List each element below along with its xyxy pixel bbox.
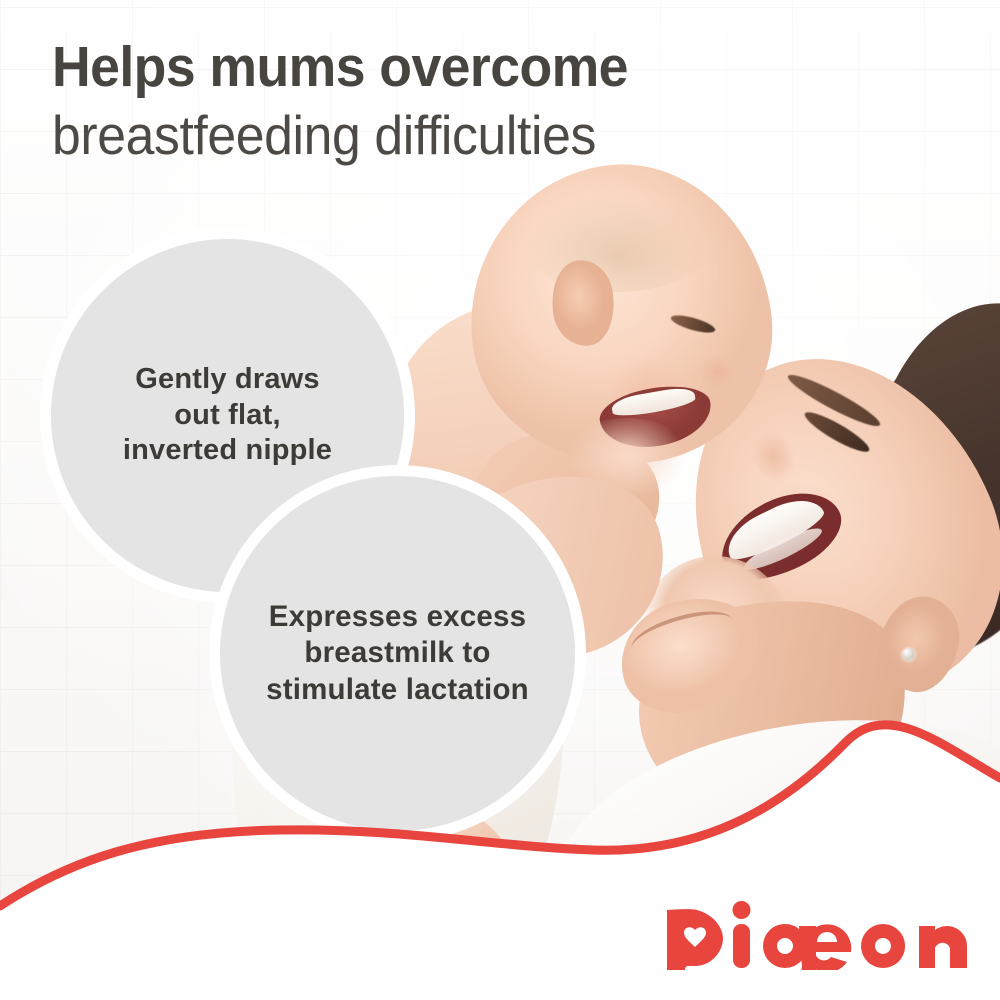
promo-banner: Helps mums overcome breastfeeding diffic…	[0, 0, 1000, 1000]
callout-text-gently-draws: Gently draws out flat, inverted nipple	[123, 362, 332, 470]
callout-text-expresses-excess: Expresses excess breastmilk to stimulate…	[266, 599, 529, 709]
headline-line-1: Helps mums overcome	[52, 36, 766, 98]
pigeon-logo: pigeon	[663, 888, 973, 970]
logo-letter-i-dot	[733, 901, 751, 919]
mother-earring	[902, 648, 915, 661]
logo-letter-o	[861, 924, 905, 968]
baby-hair	[512, 172, 722, 292]
logo-letter-p-stem	[667, 910, 687, 968]
logo-letter-i-stem	[733, 924, 750, 968]
headline-line-2: breastfeeding difficulties	[52, 104, 766, 166]
page-title: Helps mums overcome breastfeeding diffic…	[52, 36, 812, 166]
logo-letter-n	[919, 926, 967, 968]
